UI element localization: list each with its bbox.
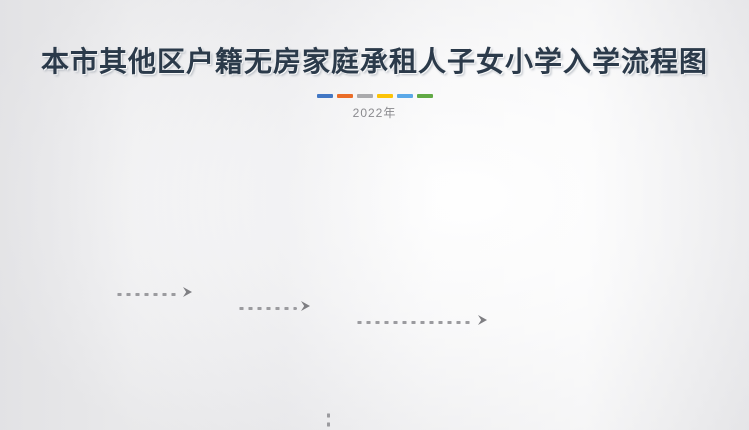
- connector-2-to-3: [237, 301, 313, 315]
- title-divider: [0, 94, 749, 98]
- connector-dots: [355, 321, 474, 324]
- arrow-head-icon: [299, 299, 313, 318]
- divider-dash-5: [397, 94, 413, 98]
- divider-dash-1: [317, 94, 333, 98]
- connector-3-to-4-unqualified: [355, 315, 490, 329]
- elbow-vertical-segment: [327, 411, 330, 430]
- connector-dots: [237, 307, 297, 310]
- connector-3-to-4-qualified: [196, 411, 336, 430]
- flowchart-canvas: 本市其他区户籍无房家庭承租人子女小学入学流程图 2022年: [0, 0, 749, 430]
- divider-dash-2: [337, 94, 353, 98]
- divider-dash-4: [377, 94, 393, 98]
- chart-header: 本市其他区户籍无房家庭承租人子女小学入学流程图 2022年: [0, 0, 749, 121]
- arrow-head-icon: [181, 285, 195, 304]
- year-label: 2022年: [0, 104, 749, 121]
- page-title: 本市其他区户籍无房家庭承租人子女小学入学流程图: [0, 0, 749, 80]
- arrow-head-icon: [476, 313, 490, 332]
- connector-dots: [115, 293, 179, 296]
- connector-1-to-2: [115, 287, 195, 301]
- divider-dash-6: [417, 94, 433, 98]
- divider-dash-3: [357, 94, 373, 98]
